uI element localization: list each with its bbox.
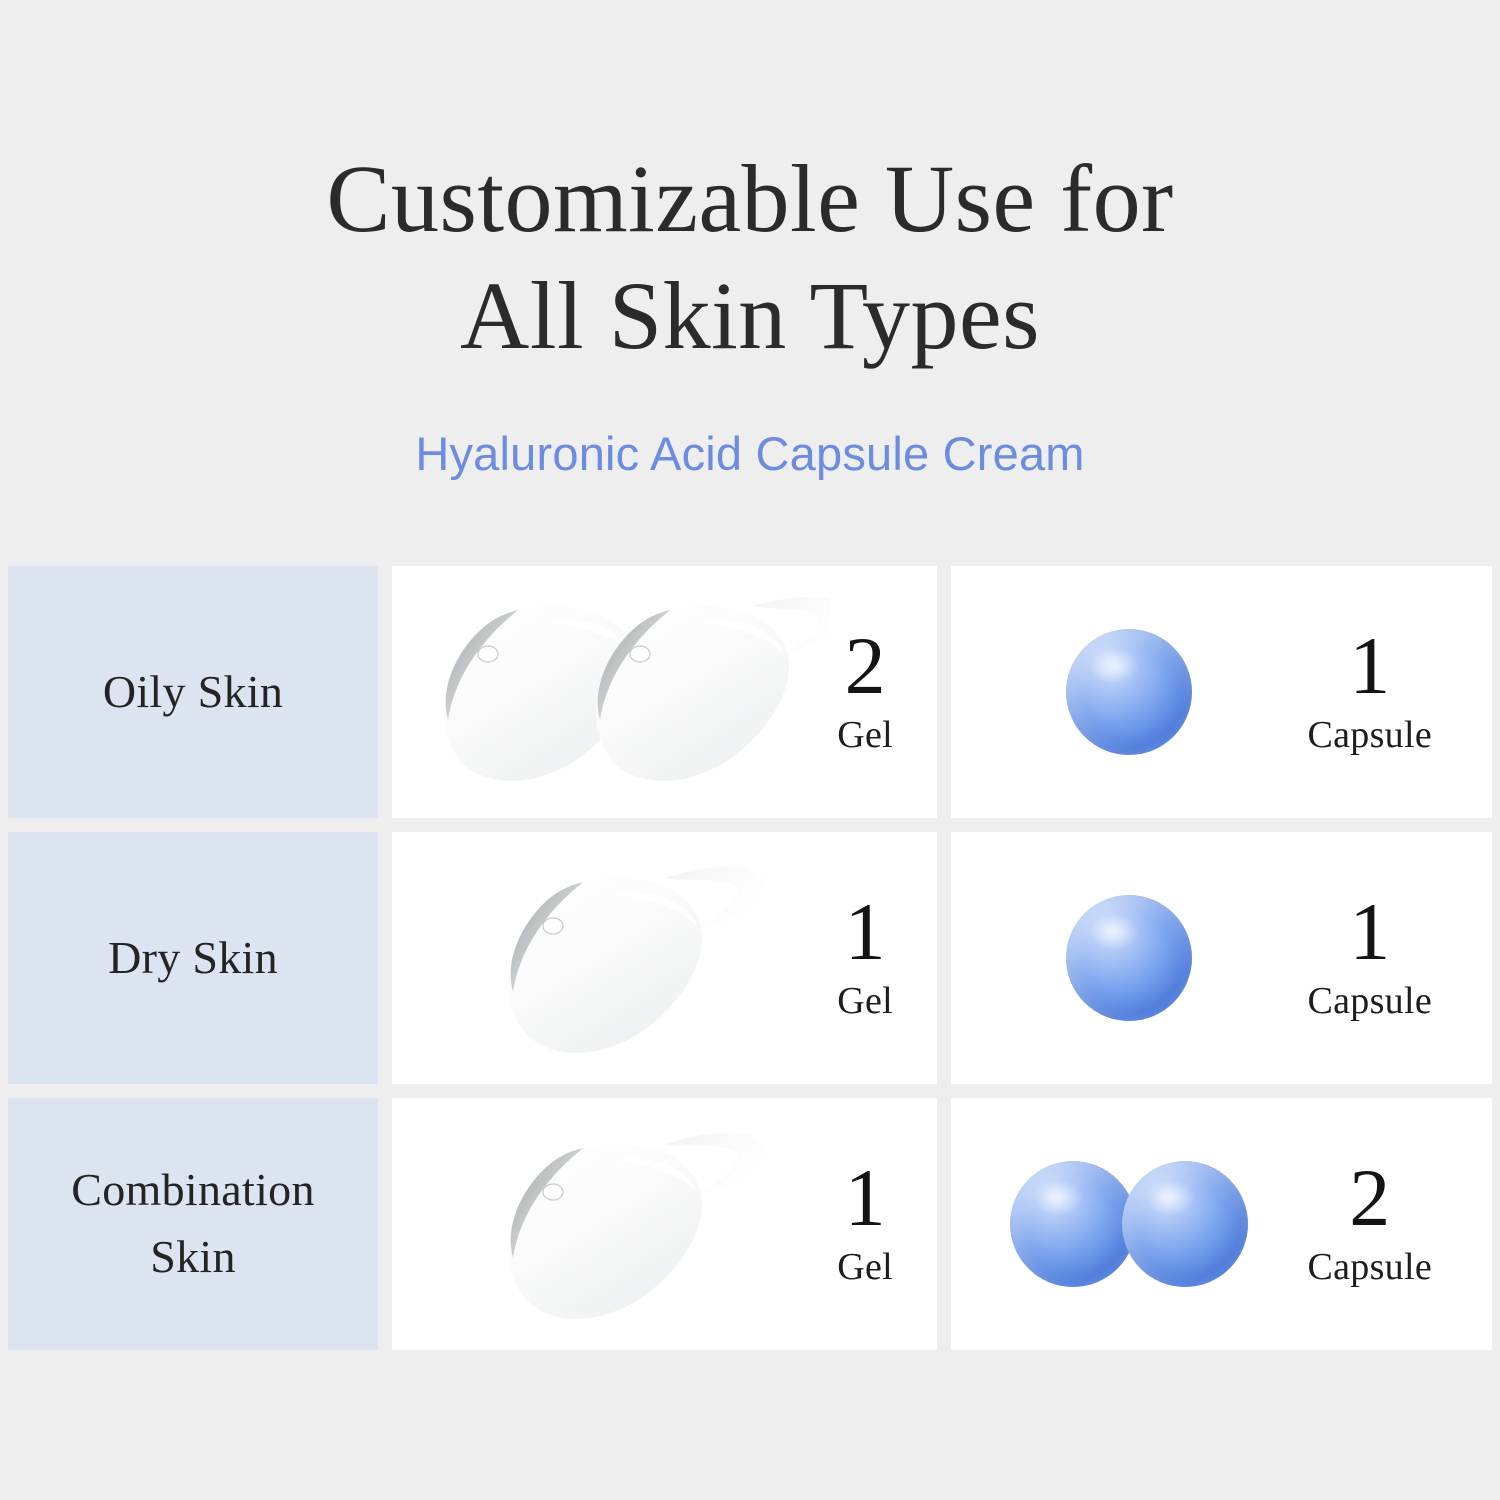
capsule-sphere-icon — [951, 1098, 1307, 1350]
capsule-count-block: 1 Capsule — [1307, 893, 1492, 1024]
capsule-count-number: 2 — [1349, 1159, 1390, 1238]
skin-type-label: Dry Skin — [90, 925, 296, 992]
page-title-line-2: All Skin Types — [0, 257, 1500, 374]
gel-droplet-icon — [392, 566, 837, 818]
skin-type-label: Combination Skin — [8, 1157, 378, 1290]
skin-type-cell-combination: Combination Skin — [8, 1098, 378, 1350]
page-title-line-1: Customizable Use for — [0, 140, 1500, 257]
gel-droplet-icon — [392, 1098, 837, 1350]
capsule-count-unit: Capsule — [1307, 971, 1432, 1023]
capsule-count-number: 1 — [1349, 627, 1390, 706]
gel-count-block: 1 Gel — [837, 893, 937, 1024]
table-row: Oily Skin — [8, 566, 1492, 818]
skin-type-cell-oily: Oily Skin — [8, 566, 378, 818]
capsule-sphere — [1066, 895, 1192, 1021]
capsule-visual — [951, 1098, 1307, 1350]
capsule-amount-cell-dry: 1 Capsule — [951, 832, 1492, 1084]
gel-droplet-icon — [392, 832, 837, 1084]
gel-count-block: 2 Gel — [837, 627, 937, 758]
gel-count-block: 1 Gel — [837, 1159, 937, 1290]
table-row: Dry Skin — [8, 832, 1492, 1084]
capsule-count-block: 2 Capsule — [1307, 1159, 1492, 1290]
capsule-sphere — [1010, 1161, 1136, 1287]
table-row: Combination Skin — [8, 1098, 1492, 1350]
gel-count-unit: Gel — [837, 1237, 893, 1289]
capsule-count-unit: Capsule — [1307, 1237, 1432, 1289]
page-header: Customizable Use for All Skin Types Hyal… — [0, 0, 1500, 481]
gel-visual — [392, 832, 837, 1084]
gel-amount-cell-dry: 1 Gel — [392, 832, 937, 1084]
gel-count-number: 1 — [845, 1159, 886, 1238]
capsule-count-unit: Capsule — [1307, 705, 1432, 757]
gel-amount-cell-combination: 1 Gel — [392, 1098, 937, 1350]
gel-amount-cell-oily: 2 Gel — [392, 566, 937, 818]
capsule-sphere-icon — [951, 832, 1307, 1084]
capsule-sphere-icon — [951, 566, 1307, 818]
gel-visual — [392, 1098, 837, 1350]
usage-table: Oily Skin — [8, 566, 1492, 1350]
capsule-sphere — [1066, 629, 1192, 755]
product-subtitle: Hyaluronic Acid Capsule Cream — [0, 374, 1500, 481]
capsule-count-block: 1 Capsule — [1307, 627, 1492, 758]
skin-type-label: Oily Skin — [85, 659, 301, 726]
page-title: Customizable Use for All Skin Types — [0, 140, 1500, 374]
capsule-amount-cell-oily: 1 Capsule — [951, 566, 1492, 818]
gel-count-number: 1 — [845, 893, 886, 972]
gel-count-unit: Gel — [837, 971, 893, 1023]
capsule-count-number: 1 — [1349, 893, 1390, 972]
skin-type-cell-dry: Dry Skin — [8, 832, 378, 1084]
gel-visual — [392, 566, 837, 818]
capsule-sphere — [1122, 1161, 1248, 1287]
capsule-visual — [951, 566, 1307, 818]
capsule-amount-cell-combination: 2 Capsule — [951, 1098, 1492, 1350]
gel-count-number: 2 — [845, 627, 886, 706]
capsule-visual — [951, 832, 1307, 1084]
gel-count-unit: Gel — [837, 705, 893, 757]
